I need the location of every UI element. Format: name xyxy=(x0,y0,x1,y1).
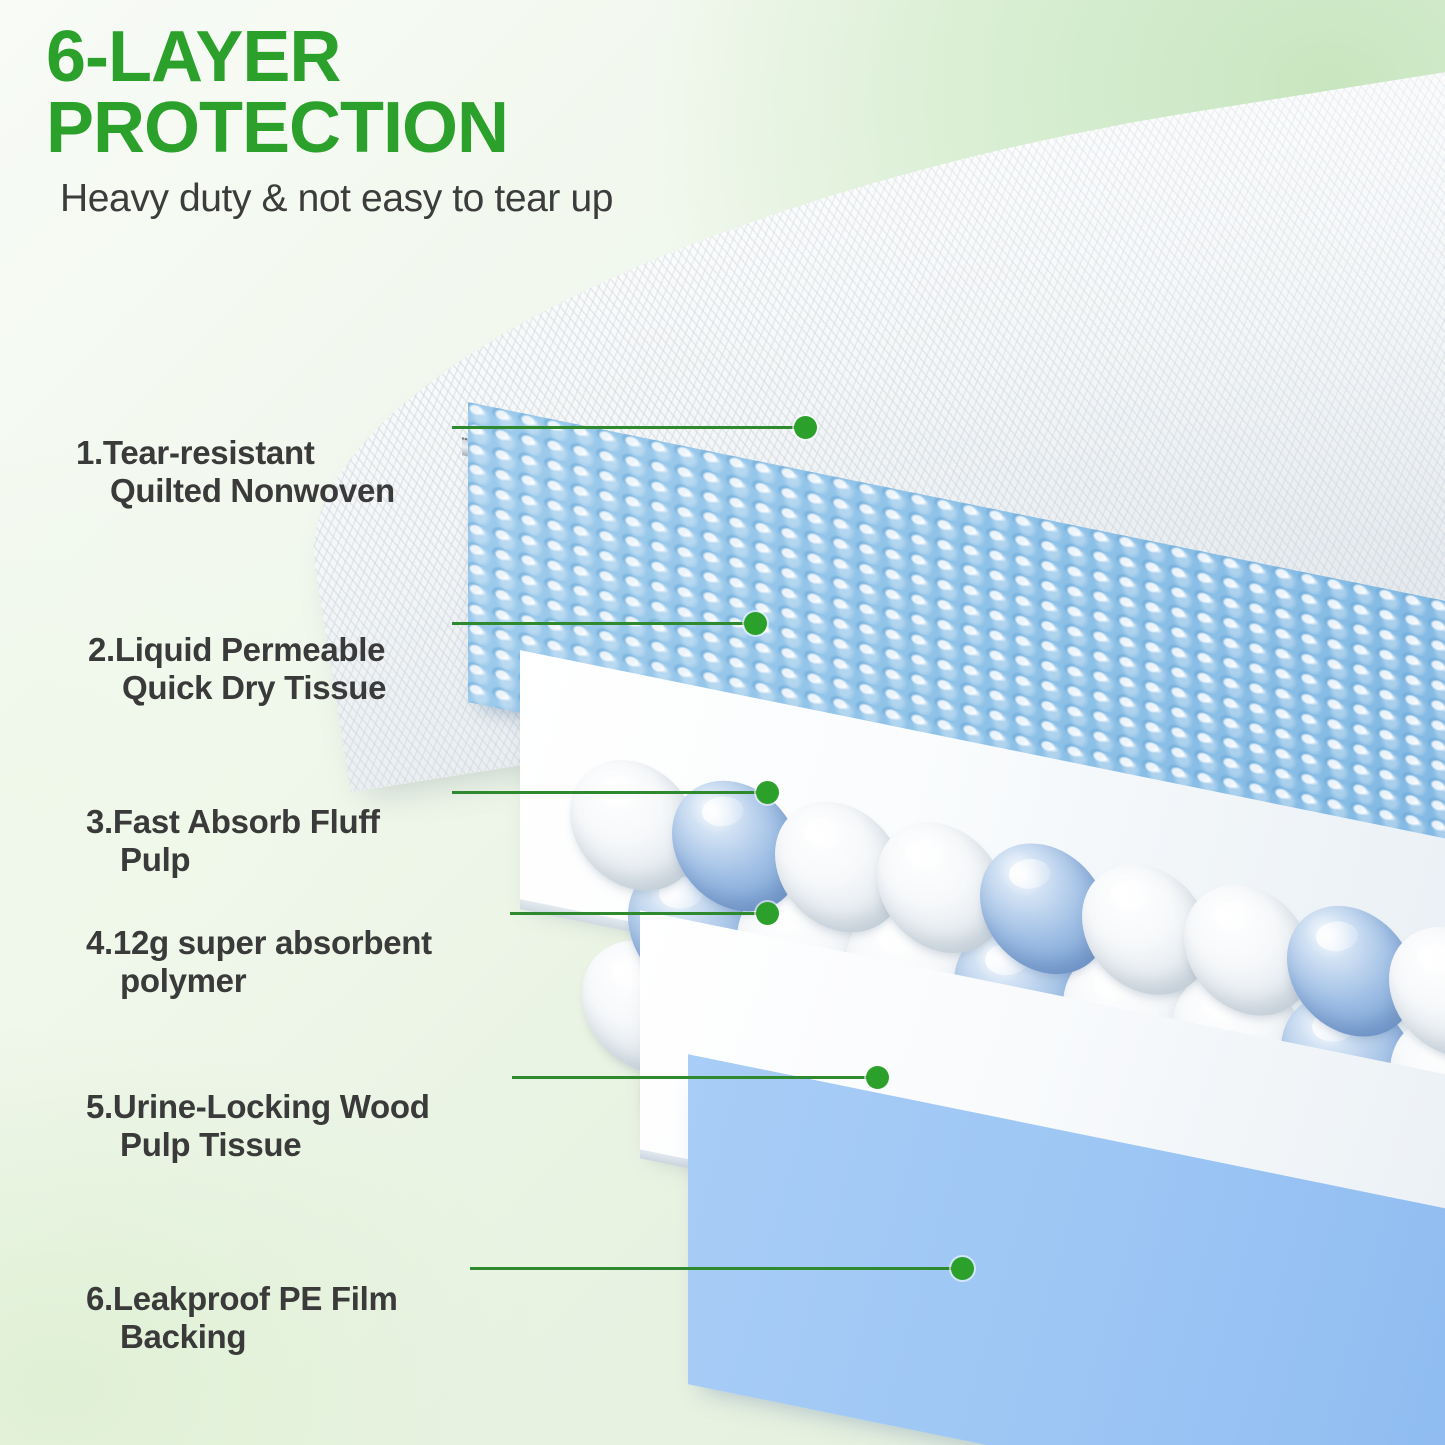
leader-line-2 xyxy=(452,622,752,625)
callout-line2-1: Quilted Nonwoven xyxy=(76,472,506,510)
callout-line1-1: Tear-resistant xyxy=(103,434,315,471)
callout-line1-2: Liquid Permeable xyxy=(115,631,385,668)
callout-line1-4: 12g super absorbent xyxy=(113,924,432,961)
leader-dot-2 xyxy=(744,612,767,635)
product-layer-infographic: 6-LAYER PROTECTION Heavy duty & not easy… xyxy=(0,0,1445,1445)
callout-number-5: 5. xyxy=(86,1088,113,1125)
callout-line2-3: Pulp xyxy=(86,841,516,879)
callout-label-2: 2.Liquid Permeable Quick Dry Tissue xyxy=(88,593,518,745)
callout-line2-6: Backing xyxy=(86,1318,556,1356)
leader-line-3 xyxy=(452,791,764,794)
leader-line-6 xyxy=(470,1267,960,1270)
callout-number-2: 2. xyxy=(88,631,115,668)
callout-line2-5: Pulp Tissue xyxy=(86,1126,556,1164)
leader-dot-4 xyxy=(756,902,779,925)
callout-line1-6: Leakproof PE Film xyxy=(113,1280,398,1317)
callout-number-6: 6. xyxy=(86,1280,113,1317)
callout-line2-2: Quick Dry Tissue xyxy=(88,669,518,707)
callout-number-1: 1. xyxy=(76,434,103,471)
callout-list: 1.Tear-resistant Quilted Nonwoven 2.Liqu… xyxy=(0,0,1445,1445)
leader-dot-5 xyxy=(866,1066,889,1089)
callout-number-3: 3. xyxy=(86,803,113,840)
callout-line1-3: Fast Absorb Fluff xyxy=(113,803,380,840)
callout-label-1: 1.Tear-resistant Quilted Nonwoven xyxy=(76,396,506,548)
callout-number-4: 4. xyxy=(86,924,113,961)
leader-dot-1 xyxy=(794,416,817,439)
callout-label-4: 4.12g super absorbent polymer xyxy=(86,886,536,1038)
callout-line1-5: Urine-Locking Wood xyxy=(113,1088,430,1125)
leader-line-5 xyxy=(512,1076,874,1079)
leader-dot-6 xyxy=(951,1257,974,1280)
leader-dot-3 xyxy=(756,781,779,804)
callout-label-6: 6.Leakproof PE Film Backing xyxy=(86,1242,556,1394)
leader-line-1 xyxy=(452,426,802,429)
callout-line2-4: polymer xyxy=(86,962,536,1000)
callout-label-5: 5.Urine-Locking Wood Pulp Tissue xyxy=(86,1050,556,1202)
leader-line-4 xyxy=(510,912,764,915)
